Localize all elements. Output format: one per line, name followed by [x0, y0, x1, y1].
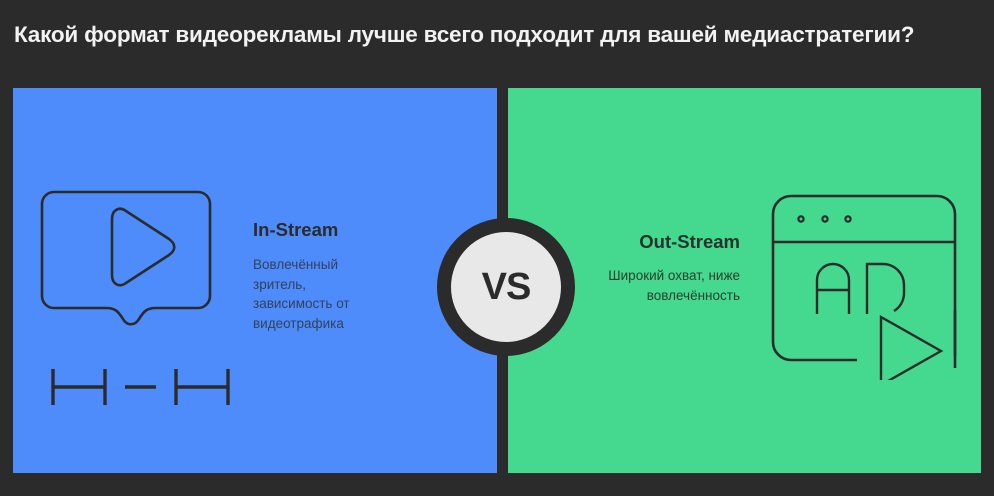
panel-out-stream[interactable]: Out-Stream Широкий охват, ниже вовлечённ… [508, 88, 981, 473]
speech-bubble-play-icon [40, 178, 240, 410]
out-stream-title: Out-Stream [590, 231, 740, 253]
in-stream-description: Вовлечённый зритель, зависимость от виде… [253, 255, 383, 333]
out-stream-text-block: Out-Stream Широкий охват, ниже вовлечённ… [590, 231, 740, 305]
in-stream-title: In-Stream [253, 219, 383, 241]
page-title: Какой формат видеорекламы лучше всего по… [14, 20, 980, 50]
vs-badge: VS [437, 218, 575, 356]
browser-window-ad-play-icon [759, 180, 969, 380]
vs-label: VS [482, 268, 531, 306]
comparison-infographic: Какой формат видеорекламы лучше всего по… [0, 0, 994, 496]
panel-in-stream[interactable]: In-Stream Вовлечённый зритель, зависимос… [13, 88, 497, 473]
out-stream-description: Широкий охват, ниже вовлечённость [590, 266, 740, 305]
in-stream-text-block: In-Stream Вовлечённый зритель, зависимос… [253, 219, 383, 333]
